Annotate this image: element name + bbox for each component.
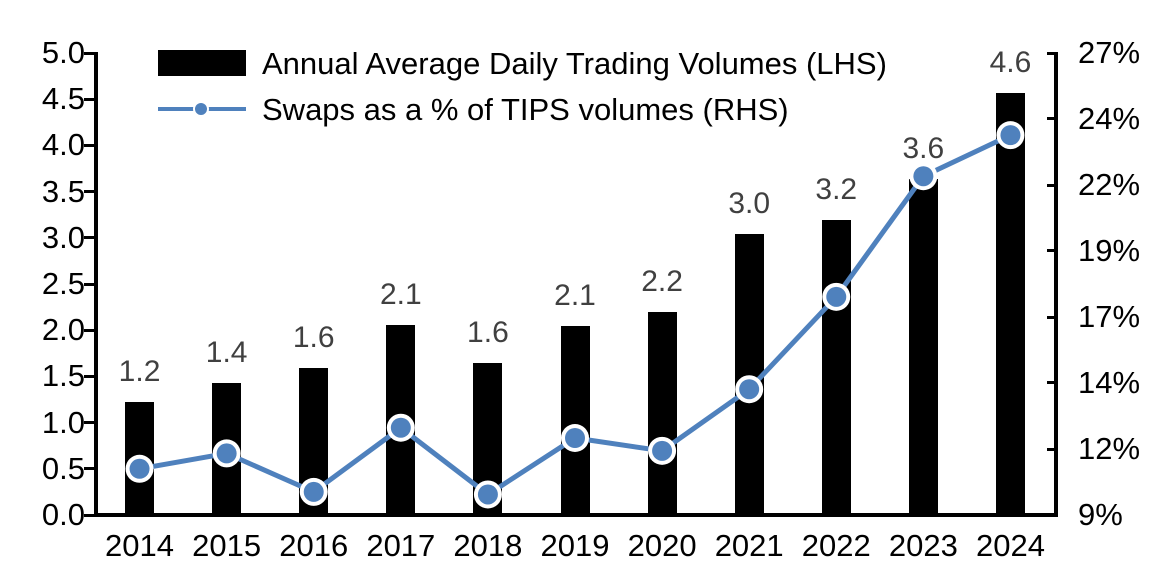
bar — [822, 220, 851, 515]
chart-legend: Annual Average Daily Trading Volumes (LH… — [158, 40, 887, 132]
bar-data-label: 1.6 — [467, 316, 509, 350]
x-axis-tick-label: 2018 — [453, 528, 522, 564]
x-axis-tick-label: 2020 — [628, 528, 697, 564]
bar-data-label: 1.6 — [293, 321, 335, 355]
left-axis-tick-label: 4.5 — [42, 83, 85, 114]
bar — [212, 383, 241, 515]
bar-data-label: 2.2 — [641, 265, 683, 299]
left-axis-tick-label: 3.5 — [42, 176, 85, 207]
left-axis-tick — [84, 375, 95, 378]
left-axis-tick — [84, 98, 95, 101]
bar — [386, 325, 415, 515]
x-axis-tick-label: 2016 — [279, 528, 348, 564]
left-axis-tick — [84, 421, 95, 424]
right-axis-tick — [1047, 381, 1058, 384]
right-axis-tick — [1047, 52, 1058, 55]
right-axis-tick-label: 12% — [1078, 433, 1140, 464]
bar-data-label: 3.2 — [815, 173, 857, 207]
left-axis-tick — [84, 236, 95, 239]
right-axis-tick — [1047, 184, 1058, 187]
left-axis-tick-label: 2.0 — [42, 314, 85, 345]
bar — [648, 312, 677, 515]
x-axis-tick-label: 2017 — [366, 528, 435, 564]
left-axis-tick-label: 3.0 — [42, 222, 85, 253]
left-axis-tick-label: 0.5 — [42, 453, 85, 484]
right-axis-tick-label: 24% — [1078, 103, 1140, 134]
bar — [561, 326, 590, 515]
legend-item-line[interactable]: Swaps as a % of TIPS volumes (RHS) — [158, 86, 887, 132]
bar — [909, 179, 938, 515]
x-axis-tick-label: 2022 — [802, 528, 871, 564]
bar — [299, 368, 328, 515]
x-axis-tick-label: 2021 — [715, 528, 784, 564]
right-axis-tick-label: 19% — [1078, 235, 1140, 266]
x-axis-tick-label: 2014 — [105, 528, 174, 564]
left-axis-tick-label: 2.5 — [42, 268, 85, 299]
right-axis-tick-label: 17% — [1078, 301, 1140, 332]
right-axis-tick-label: 9% — [1078, 499, 1123, 530]
bar-data-label: 3.6 — [903, 132, 945, 166]
bar — [996, 93, 1025, 515]
right-axis-tick — [1047, 448, 1058, 451]
bar — [125, 402, 154, 515]
legend-item-bars[interactable]: Annual Average Daily Trading Volumes (LH… — [158, 40, 887, 86]
left-axis-tick — [84, 144, 95, 147]
bar-data-label: 4.6 — [990, 46, 1032, 80]
right-axis-tick — [1047, 249, 1058, 252]
bar-data-label: 2.1 — [380, 278, 422, 312]
chart-container: 1.21.41.62.11.62.12.23.03.23.64.6 0.00.5… — [0, 0, 1152, 584]
x-axis-tick-label: 2024 — [976, 528, 1045, 564]
left-axis-tick-label: 4.0 — [42, 129, 85, 160]
bar — [735, 234, 764, 515]
right-axis-tick-label: 22% — [1078, 169, 1140, 200]
bar-data-label: 3.0 — [728, 187, 770, 221]
legend-item-label: Annual Average Daily Trading Volumes (LH… — [262, 48, 887, 79]
left-axis-tick — [84, 467, 95, 470]
legend-line-marker-icon — [158, 96, 246, 122]
left-axis-tick — [84, 52, 95, 55]
right-axis-tick-label: 27% — [1078, 37, 1140, 68]
legend-item-label: Swaps as a % of TIPS volumes (RHS) — [262, 94, 789, 125]
bar-data-label: 2.1 — [554, 279, 596, 313]
left-axis-tick — [84, 514, 95, 517]
left-axis-tick — [84, 190, 95, 193]
bar-data-label: 1.2 — [119, 355, 161, 389]
x-axis-line — [94, 513, 1058, 517]
right-axis-tick-label: 14% — [1078, 367, 1140, 398]
x-axis-tick-label: 2023 — [889, 528, 958, 564]
x-axis-tick-label: 2019 — [541, 528, 610, 564]
right-axis-tick — [1047, 117, 1058, 120]
bar-data-label: 1.4 — [206, 336, 248, 370]
bar — [473, 363, 502, 515]
left-axis-tick-label: 0.0 — [42, 499, 85, 530]
x-axis-tick-label: 2015 — [192, 528, 261, 564]
right-axis-tick — [1047, 316, 1058, 319]
left-axis-tick-label: 1.0 — [42, 407, 85, 438]
left-axis-tick-label: 1.5 — [42, 360, 85, 391]
right-axis-tick — [1047, 514, 1058, 517]
legend-bar-swatch-icon — [158, 50, 246, 76]
left-axis-tick — [84, 329, 95, 332]
left-axis-tick-label: 5.0 — [42, 37, 85, 68]
left-axis-tick — [84, 283, 95, 286]
